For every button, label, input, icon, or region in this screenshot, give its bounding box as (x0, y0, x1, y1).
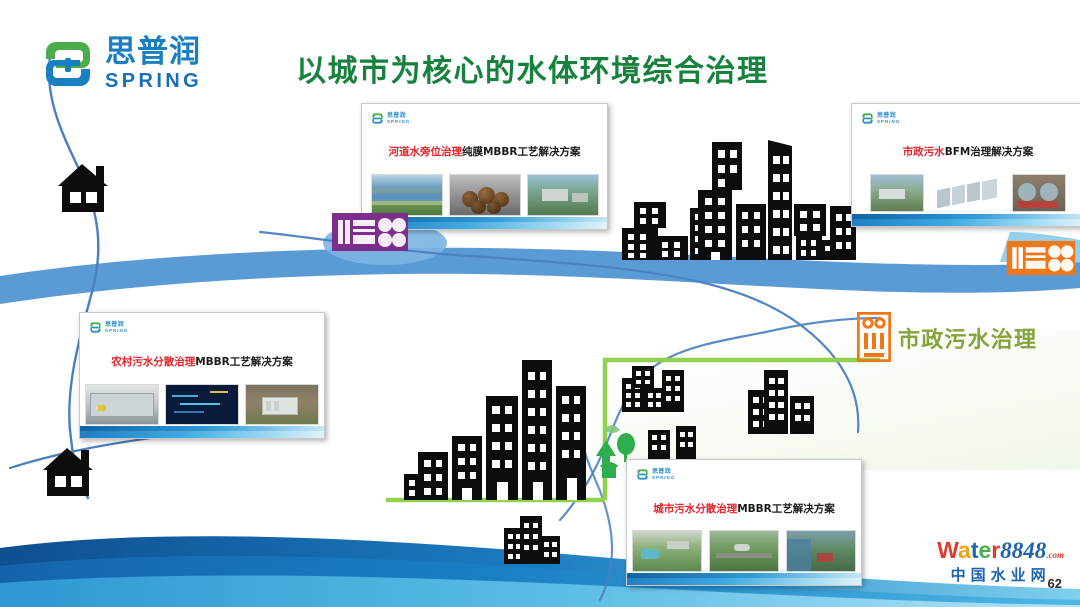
municipal-building-icon-orange[interactable] (857, 312, 891, 367)
thumbnail-container-equipment (85, 384, 159, 425)
spring-logo-mark (861, 112, 874, 125)
thumbnail-river-canal-aerial (371, 174, 443, 216)
card-footer-band (627, 573, 861, 585)
card-title: 农村污水分散治理MBBR工艺解决方案 (80, 354, 324, 369)
thumbnail-green-campus-aerial (709, 530, 779, 572)
card-title-highlight: 农村污水分散治理 (111, 356, 195, 368)
card-title: 河道水旁位治理纯膜MBBR工艺解决方案 (362, 144, 607, 159)
card-thumbnails (80, 384, 324, 425)
company-logo: 思普润 SPRING (40, 36, 202, 92)
spring-logo-mark (636, 468, 649, 481)
slide-title: 以城市为核心的水体环境综合治理 (296, 46, 769, 90)
watermark-top-line: Water8848.com (937, 539, 1064, 562)
card-footer-band (80, 426, 324, 438)
card-title: 市政污水BFM治理解决方案 (852, 144, 1080, 159)
label-municipal-sewage-treatment: 市政污水治理 (898, 322, 1037, 354)
card-title: 城市污水分散治理MBBR工艺解决方案 (627, 501, 861, 516)
logo-english-text: SPRING (105, 71, 202, 91)
slide-canvas: 思普润 SPRING 以城市为核心的水体环境综合治理 思普润 SPRING 河道… (0, 0, 1080, 607)
card-logo-en: SPRING (877, 120, 900, 125)
logo-chinese-text: 思普润 (105, 37, 202, 68)
city-skyline-district (622, 366, 814, 460)
card-thumbnails (362, 174, 607, 216)
river-band (0, 248, 1080, 304)
card-title-rest: MBBR工艺解决方案 (195, 356, 293, 368)
card-logo-en: SPRING (105, 329, 128, 334)
treatment-plant-icon-orange[interactable] (1004, 240, 1078, 281)
thumbnail-bfm-module-diagram (934, 174, 1002, 212)
thumbnail-riverside-park-aerial (786, 530, 856, 572)
card-municipal-bfm[interactable]: 思普润 SPRING 市政污水BFM治理解决方案 (851, 103, 1080, 227)
page-number: 62 (1048, 576, 1062, 591)
card-title-highlight: 市政污水 (903, 146, 945, 158)
card-title-highlight: 城市污水分散治理 (653, 503, 737, 515)
card-logo: 思普润 SPRING (89, 321, 128, 334)
card-title-rest: MBBR工艺解决方案 (737, 503, 835, 515)
wm-t: t (971, 537, 979, 563)
card-thumbnails (852, 174, 1080, 212)
wm-w: W (937, 537, 958, 563)
wm-com: .com (1046, 550, 1064, 560)
city-skyline-upper (622, 140, 856, 260)
house-icon-upper (58, 164, 108, 212)
card-logo: 思普润 SPRING (861, 112, 900, 125)
card-logo: 思普润 SPRING (371, 112, 410, 125)
thumbnail-mbbr-carriers-closeup (449, 174, 521, 216)
thumbnail-scada-monitor-screen (165, 384, 239, 425)
card-title-highlight: 河道水旁位治理 (388, 146, 462, 158)
house-icon-lower (43, 448, 93, 496)
thumbnail-rural-site-aerial (245, 384, 319, 425)
card-logo-en: SPRING (387, 120, 410, 125)
card-thumbnails (627, 530, 861, 572)
card-river-side-mbbr[interactable]: 思普润 SPRING 河道水旁位治理纯膜MBBR工艺解决方案 (361, 103, 608, 230)
city-skyline-bottom (504, 516, 560, 564)
wm-number: 8848 (1000, 538, 1046, 563)
thumbnail-treatment-plant-aerial (527, 174, 599, 216)
card-logo: 思普润 SPRING (636, 468, 675, 481)
wm-e: e (979, 537, 992, 563)
card-urban-decentralized-mbbr[interactable]: 思普润 SPRING 城市污水分散治理MBBR工艺解决方案 (626, 459, 862, 586)
card-rural-decentralized-mbbr[interactable]: 思普润 SPRING 农村污水分散治理MBBR工艺解决方案 (79, 312, 325, 439)
card-title-rest: 纯膜MBBR工艺解决方案 (462, 146, 581, 158)
watermark-water8848: Water8848.com 中国水业网 (937, 539, 1064, 585)
thumbnail-park-landscape-aerial (632, 530, 702, 572)
card-logo-en: SPRING (652, 476, 675, 481)
card-footer-band (852, 214, 1080, 226)
spring-logo-mark (371, 112, 384, 125)
city-skyline-lower-left (404, 360, 586, 500)
spring-logo-mark (89, 321, 102, 334)
watermark-chinese: 中国水业网 (937, 564, 1064, 585)
thumbnail-plant-aerial-view (870, 174, 924, 212)
card-title-rest: BFM治理解决方案 (945, 146, 1034, 158)
thumbnail-sedimentation-tanks-aerial (1012, 174, 1066, 212)
wm-a: a (958, 537, 971, 563)
wm-r: r (991, 537, 1000, 563)
spring-logo-mark (40, 36, 96, 92)
treatment-plant-icon-purple[interactable] (331, 212, 409, 257)
